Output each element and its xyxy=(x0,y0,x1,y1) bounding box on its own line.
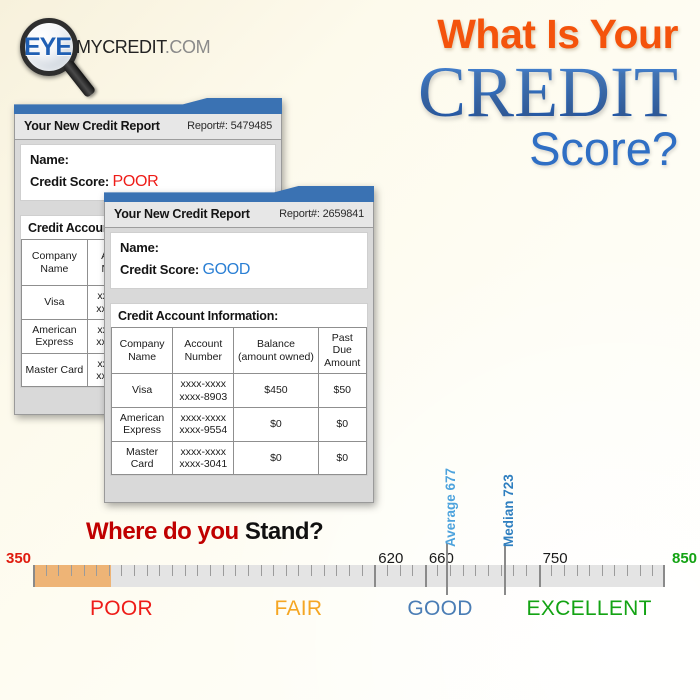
table-row: American Express xxxx-xxxx xxxx-9554 $0 … xyxy=(112,407,367,441)
axis-tick-label: 750 xyxy=(543,550,568,567)
cell-company: Visa xyxy=(22,286,88,320)
category-label-poor: POOR xyxy=(90,597,153,621)
axis-minor-tick xyxy=(185,565,186,576)
headline-line-1: What Is Your xyxy=(418,14,678,56)
folder-footer-space xyxy=(105,476,373,502)
cell-company: Visa xyxy=(112,374,173,408)
axis-minor-tick xyxy=(311,565,312,576)
cell-account: xxxx-xxxx xxxx-3041 xyxy=(173,441,234,475)
axis-minor-tick xyxy=(121,565,122,576)
table-row: Master Card xxxx-xxxx xxxx-3041 $0 $0 xyxy=(112,441,367,475)
logo-brand-text: MYCREDIT.COM xyxy=(76,37,210,58)
category-label-fair: FAIR xyxy=(274,597,322,621)
cell-company: Master Card xyxy=(22,353,88,387)
folder-body: Your New Credit Report Report#: 2659841 … xyxy=(104,202,374,503)
axis-minor-tick xyxy=(475,565,476,576)
cell-account: xxxx-xxxx xxxx-9554 xyxy=(173,407,234,441)
marker-line-median xyxy=(504,543,506,595)
axis-minor-tick xyxy=(46,565,47,576)
report-title: Your New Credit Report xyxy=(24,119,160,133)
report-number: Report#: 5479485 xyxy=(187,120,272,132)
axis-minor-tick xyxy=(589,565,590,576)
axis-minor-tick xyxy=(602,565,603,576)
name-row: Name: xyxy=(120,239,358,258)
cell-past-due: $0 xyxy=(318,441,366,475)
magnifier-handle-icon xyxy=(62,59,96,98)
report-number: Report#: 2659841 xyxy=(279,208,364,220)
name-row: Name: xyxy=(30,151,266,170)
logo-mycredit-text: MYCREDIT xyxy=(76,37,165,57)
score-label: Credit Score: xyxy=(120,262,199,277)
axis-tick-label-min: 350 xyxy=(6,550,31,567)
score-label: Credit Score: xyxy=(30,174,109,189)
axis-minor-tick xyxy=(223,565,224,576)
cell-balance: $0 xyxy=(234,407,318,441)
cell-balance: $450 xyxy=(234,374,318,408)
axis-minor-tick xyxy=(109,565,110,576)
name-label: Name: xyxy=(120,240,159,255)
axis-minor-tick xyxy=(627,565,628,576)
axis-minor-tick xyxy=(197,565,198,576)
table-header-row: Company Name Account Number Balance (amo… xyxy=(112,328,367,374)
axis-minor-tick xyxy=(286,565,287,576)
folder-tab xyxy=(104,186,374,202)
axis-tick-label: 620 xyxy=(378,550,403,567)
axis-minor-tick xyxy=(501,565,502,576)
account-table: Company Name Account Number Balance (amo… xyxy=(111,327,367,475)
axis-major-tick xyxy=(425,565,427,587)
report-number-value: 2659841 xyxy=(323,208,364,220)
cell-company: American Express xyxy=(22,319,88,353)
column-header: Company Name xyxy=(112,328,173,374)
cell-past-due: $50 xyxy=(318,374,366,408)
name-label: Name: xyxy=(30,152,69,167)
page-title: What Is Your CREDIT Score? xyxy=(418,14,678,172)
column-header: Company Name xyxy=(22,240,88,286)
cell-account: xxxx-xxxx xxxx-8903 xyxy=(173,374,234,408)
axis-minor-tick xyxy=(614,565,615,576)
axis-minor-tick xyxy=(513,565,514,576)
axis-minor-tick xyxy=(235,565,236,576)
axis-minor-tick xyxy=(96,565,97,576)
axis-minor-tick xyxy=(463,565,464,576)
axis-minor-tick xyxy=(324,565,325,576)
site-logo[interactable]: EYE MYCREDIT.COM xyxy=(14,16,194,88)
axis-minor-tick xyxy=(210,565,211,576)
report-title: Your New Credit Report xyxy=(114,207,250,221)
axis-minor-tick xyxy=(84,565,85,576)
axis-minor-tick xyxy=(526,565,527,576)
axis-minor-tick xyxy=(172,565,173,576)
column-header: Balance (amount owned) xyxy=(234,328,318,374)
axis-minor-tick xyxy=(298,565,299,576)
axis-major-tick xyxy=(33,565,35,587)
axis-minor-tick xyxy=(336,565,337,576)
score-ruler-track xyxy=(33,565,665,587)
axis-minor-tick xyxy=(248,565,249,576)
axis-minor-tick xyxy=(147,565,148,576)
logo-eye-text: EYE xyxy=(24,33,71,62)
marker-label-median: Median 723 xyxy=(501,474,516,547)
axis-major-tick xyxy=(663,565,665,587)
cell-company: Master Card xyxy=(112,441,173,475)
column-header: Account Number xyxy=(173,328,234,374)
marker-line-average xyxy=(446,543,448,595)
report-titlebar: Your New Credit Report Report#: 2659841 xyxy=(105,202,373,228)
category-label-excellent: EXCELLENT xyxy=(527,597,652,621)
report-number-label: Report#: xyxy=(187,120,228,132)
score-row: Credit Score: GOOD xyxy=(120,258,358,281)
cell-company: American Express xyxy=(112,407,173,441)
axis-major-tick xyxy=(374,565,376,587)
report-number-label: Report#: xyxy=(279,208,320,220)
axis-minor-tick xyxy=(349,565,350,576)
axis-minor-tick xyxy=(134,565,135,576)
axis-minor-tick xyxy=(640,565,641,576)
axis-minor-tick xyxy=(362,565,363,576)
axis-minor-tick xyxy=(71,565,72,576)
axis-minor-tick xyxy=(261,565,262,576)
headline-line-3: Score? xyxy=(418,125,678,172)
logo-dotcom-text: .COM xyxy=(165,37,210,57)
axis-minor-tick xyxy=(159,565,160,576)
report-titlebar: Your New Credit Report Report#: 5479485 xyxy=(15,114,281,140)
axis-major-tick xyxy=(539,565,541,587)
cell-past-due: $0 xyxy=(318,407,366,441)
report-number-value: 5479485 xyxy=(231,120,272,132)
category-label-good: GOOD xyxy=(407,597,472,621)
axis-minor-tick xyxy=(577,565,578,576)
status-badge: GOOD xyxy=(202,261,250,278)
table-row: Visa xxxx-xxxx xxxx-8903 $450 $50 xyxy=(112,374,367,408)
account-info-title: Credit Account Information: xyxy=(111,304,367,327)
marker-label-average: Average 677 xyxy=(443,468,458,547)
column-header: Past Due Amount xyxy=(318,328,366,374)
axis-tick-label: 660 xyxy=(429,550,454,567)
report-summary-box: Name: Credit Score: GOOD xyxy=(110,232,368,289)
axis-minor-tick xyxy=(652,565,653,576)
axis-minor-tick xyxy=(412,565,413,576)
axis-tick-label-max: 850 xyxy=(672,550,697,567)
headline-line-2: CREDIT xyxy=(418,58,678,127)
cell-balance: $0 xyxy=(234,441,318,475)
credit-report-card-good[interactable]: Your New Credit Report Report#: 2659841 … xyxy=(104,186,374,503)
axis-minor-tick xyxy=(273,565,274,576)
axis-minor-tick xyxy=(488,565,489,576)
folder-tab xyxy=(14,98,282,114)
account-info-section: Credit Account Information: Company Name… xyxy=(110,303,368,476)
axis-minor-tick xyxy=(58,565,59,576)
